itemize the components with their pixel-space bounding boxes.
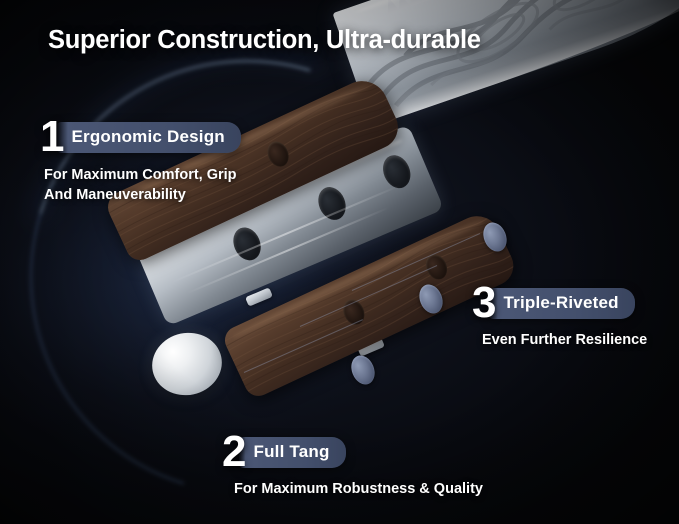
callout-number: 2 — [222, 430, 245, 474]
rivet-3 — [347, 352, 379, 388]
callout-label: Full Tang — [253, 442, 329, 461]
callout-triple-riveted: 3 Triple-Riveted Even Further Resilience — [472, 281, 647, 351]
callout-number: 3 — [472, 281, 495, 325]
product-infographic: Superior Construction, Ultra-durable 1 E… — [0, 0, 679, 524]
page-title: Superior Construction, Ultra-durable — [48, 26, 481, 55]
callout-ergonomic-design: 1 Ergonomic Design For Maximum Comfort, … — [40, 115, 241, 205]
callout-description: For Maximum Robustness & Quality — [234, 480, 483, 500]
pommel-end-cap — [146, 326, 227, 401]
callout-label: Ergonomic Design — [71, 127, 224, 146]
callout-pill: Full Tang — [239, 437, 345, 468]
callout-pill: Triple-Riveted — [489, 288, 634, 319]
callout-number: 1 — [40, 115, 63, 159]
callout-description: Even Further Resilience — [482, 331, 647, 351]
callout-pill: Ergonomic Design — [57, 122, 240, 153]
callout-label: Triple-Riveted — [503, 293, 618, 312]
callout-header: 2 Full Tang — [222, 430, 483, 474]
callout-description: For Maximum Comfort, Grip And Maneuverab… — [44, 166, 241, 205]
callout-header: 3 Triple-Riveted — [472, 281, 647, 325]
callout-header: 1 Ergonomic Design — [40, 115, 241, 159]
callout-full-tang: 2 Full Tang For Maximum Robustness & Qua… — [222, 430, 483, 500]
